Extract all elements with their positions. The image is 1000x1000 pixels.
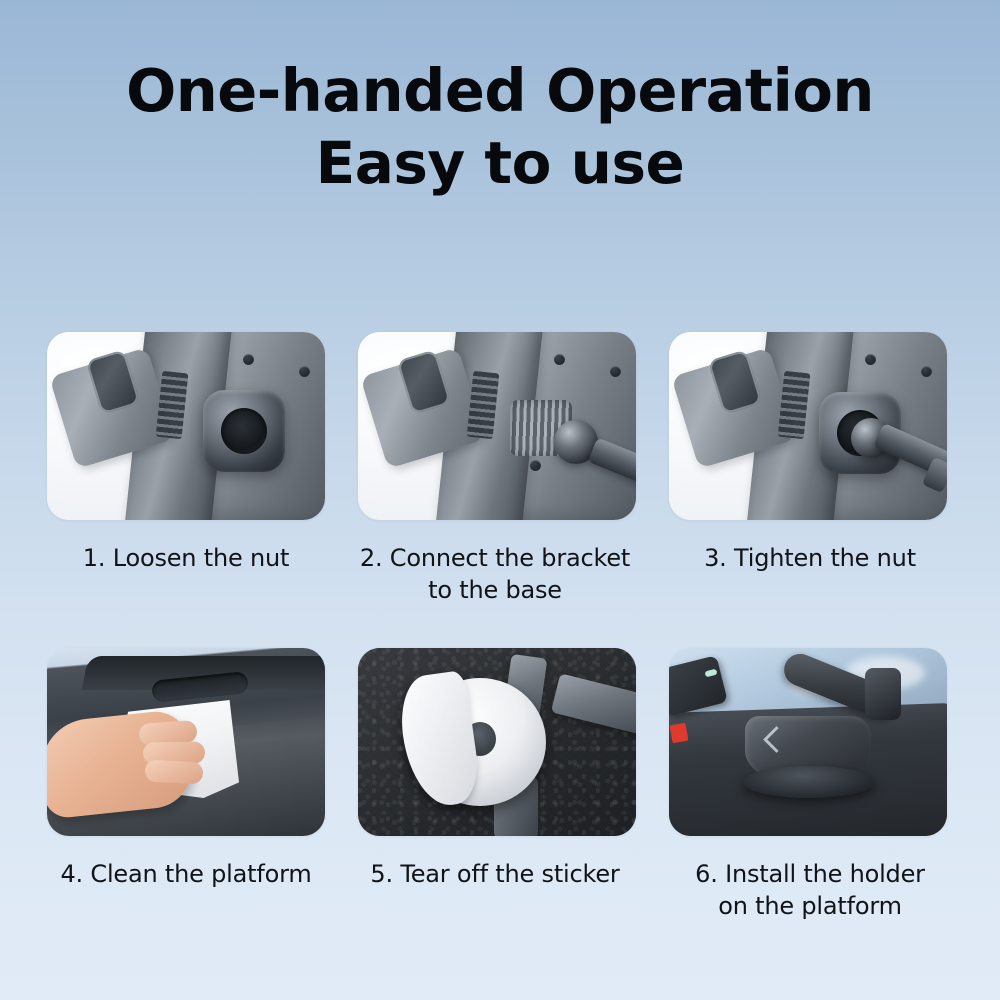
product-photo-tighten-nut: [669, 332, 947, 520]
step-caption-4: 4. Clean the platform: [47, 858, 325, 890]
product-infographic-page: One-handed Operation Easy to use: [0, 0, 1000, 1000]
screw-hole-icon: [865, 354, 876, 365]
screw-hole-icon: [554, 354, 565, 365]
red-pull-tab: [670, 723, 689, 744]
product-photo-tear-sticker: [358, 648, 636, 836]
nut-inner-ring: [221, 408, 267, 454]
heading-block: One-handed Operation Easy to use: [0, 58, 1000, 196]
step-cell-1: 1. Loosen the nut: [47, 332, 325, 574]
product-photo-install-holder: [669, 648, 947, 836]
step-caption-2: 2. Connect the bracket to the base: [354, 542, 636, 606]
finger: [144, 759, 203, 784]
screw-hole-icon: [243, 354, 254, 365]
screw-hole-icon: [530, 460, 541, 471]
step-image-4: [47, 648, 325, 836]
step-caption-1: 1. Loosen the nut: [47, 542, 325, 574]
screw-hole-icon: [299, 366, 310, 377]
step-image-6: [669, 648, 947, 836]
step-cell-3: 3. Tighten the nut: [669, 332, 947, 574]
step-cell-2: 2. Connect the bracket to the base: [358, 332, 636, 606]
step-caption-3: 3. Tighten the nut: [673, 542, 947, 574]
step-cell-6: 6. Install the holder on the platform: [669, 648, 947, 922]
product-photo-connect-bracket: [358, 332, 636, 520]
step-caption-6: 6. Install the holder on the platform: [673, 858, 947, 922]
step-cell-4: 4. Clean the platform: [47, 648, 325, 890]
step-image-1: [47, 332, 325, 520]
step-caption-5: 5. Tear off the sticker: [354, 858, 636, 890]
page-subtitle: Easy to use: [0, 130, 1000, 196]
product-photo-clean-platform: [47, 648, 325, 836]
product-photo-loosen-nut: [47, 332, 325, 520]
arm-end-clamp: [865, 668, 901, 720]
holder-arm-right: [551, 673, 636, 738]
step-cell-5: 5. Tear off the sticker: [358, 648, 636, 890]
screw-hole-icon: [921, 366, 932, 377]
page-title: One-handed Operation: [0, 58, 1000, 124]
step-image-5: [358, 648, 636, 836]
step-image-2: [358, 332, 636, 520]
steps-grid: 1. Loosen the nut: [47, 332, 953, 932]
locking-nut: [203, 390, 285, 472]
screw-hole-icon: [610, 366, 621, 377]
suction-base-foot: [743, 766, 875, 798]
step-image-3: [669, 332, 947, 520]
